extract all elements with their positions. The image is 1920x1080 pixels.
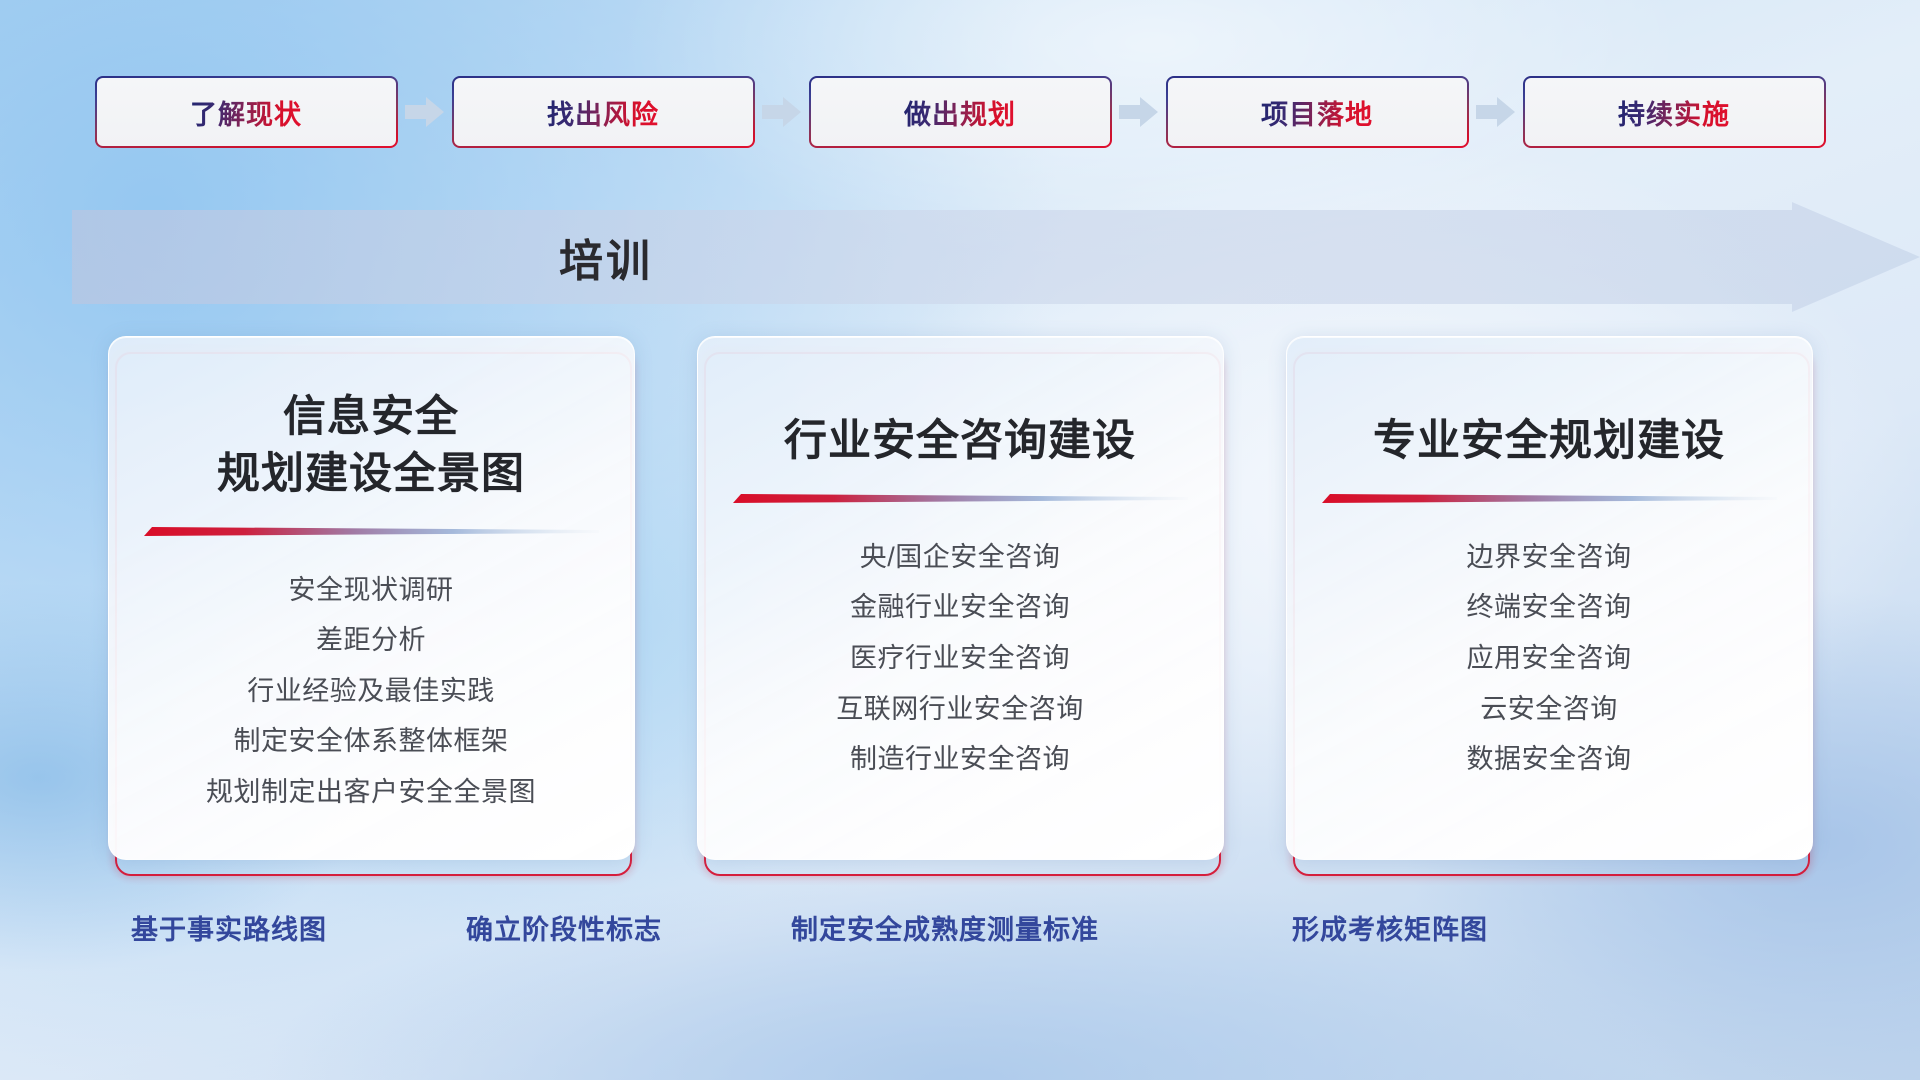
arrow-right-icon — [398, 76, 452, 148]
bottom-labels-row: 基于事实路线图 确立阶段性标志 制定安全成熟度测量标准 形成考核矩阵图 — [0, 908, 1920, 962]
card-list-2: 央/国企安全咨询 金融行业安全咨询 医疗行业安全咨询 互联网行业安全咨询 制造行… — [698, 536, 1223, 781]
step-box-4[interactable]: 项目落地 — [1166, 76, 1469, 148]
card-professional-security-planning[interactable]: 专业安全规划建设 — [1286, 336, 1813, 860]
card-divider-3 — [1322, 492, 1777, 506]
card-divider-1 — [144, 525, 599, 539]
card-list-1: 安全现状调研 差距分析 行业经验及最佳实践 制定安全体系整体框架 规划制定出客户… — [109, 569, 634, 814]
list-item: 差距分析 — [316, 619, 426, 662]
cards-row: 信息安全 规划建设全景图 — [0, 336, 1920, 876]
list-item: 数据安全咨询 — [1467, 738, 1632, 781]
card-information-security-blueprint[interactable]: 信息安全 规划建设全景图 — [108, 336, 635, 860]
card-divider-2 — [733, 492, 1188, 506]
card-wrap-2: 行业安全咨询建设 — [697, 336, 1224, 876]
process-steps-row: 了解现状 找出风险 做出规划 项目落地 持续实施 — [0, 74, 1920, 150]
list-item: 边界安全咨询 — [1467, 536, 1632, 579]
arrow-right-icon — [755, 76, 809, 148]
list-item: 互联网行业安全咨询 — [836, 688, 1084, 731]
banner-text-container: 培训 — [72, 202, 1920, 312]
step-label-3: 做出规划 — [904, 93, 1016, 132]
bottom-label-3: 制定安全成熟度测量标准 — [791, 908, 1099, 947]
card-wrap-3: 专业安全规划建设 — [1286, 336, 1813, 876]
step-label-4: 项目落地 — [1261, 93, 1373, 132]
banner-label: 培训 — [559, 225, 653, 289]
list-item: 应用安全咨询 — [1467, 637, 1632, 680]
arrow-right-icon — [1469, 76, 1523, 148]
card-title-2: 行业安全咨询建设 — [784, 413, 1136, 470]
list-item: 央/国企安全咨询 — [860, 536, 1061, 579]
list-item: 规划制定出客户安全全景图 — [206, 771, 536, 814]
training-banner: 培训 — [72, 202, 1920, 312]
list-item: 金融行业安全咨询 — [850, 586, 1070, 629]
bottom-label-2: 确立阶段性标志 — [466, 908, 662, 947]
list-item: 制造行业安全咨询 — [850, 738, 1070, 781]
step-label-1: 了解现状 — [190, 93, 302, 132]
step-label-2: 找出风险 — [547, 93, 659, 132]
bottom-label-4: 形成考核矩阵图 — [1292, 908, 1488, 947]
step-label-5: 持续实施 — [1618, 93, 1730, 132]
list-item: 云安全咨询 — [1480, 688, 1618, 731]
list-item: 安全现状调研 — [289, 569, 454, 612]
card-industry-security-consulting[interactable]: 行业安全咨询建设 — [697, 336, 1224, 860]
card-title-1: 信息安全 规划建设全景图 — [217, 389, 525, 503]
arrow-right-icon — [1112, 76, 1166, 148]
card-wrap-1: 信息安全 规划建设全景图 — [108, 336, 635, 876]
step-box-2[interactable]: 找出风险 — [452, 76, 755, 148]
list-item: 行业经验及最佳实践 — [247, 670, 495, 713]
card-list-3: 边界安全咨询 终端安全咨询 应用安全咨询 云安全咨询 数据安全咨询 — [1287, 536, 1812, 781]
step-box-5[interactable]: 持续实施 — [1523, 76, 1826, 148]
step-box-3[interactable]: 做出规划 — [809, 76, 1112, 148]
step-box-1[interactable]: 了解现状 — [95, 76, 398, 148]
list-item: 制定安全体系整体框架 — [234, 720, 509, 763]
list-item: 医疗行业安全咨询 — [850, 637, 1070, 680]
bottom-label-1: 基于事实路线图 — [131, 908, 327, 947]
card-title-3: 专业安全规划建设 — [1373, 413, 1725, 470]
list-item: 终端安全咨询 — [1467, 586, 1632, 629]
